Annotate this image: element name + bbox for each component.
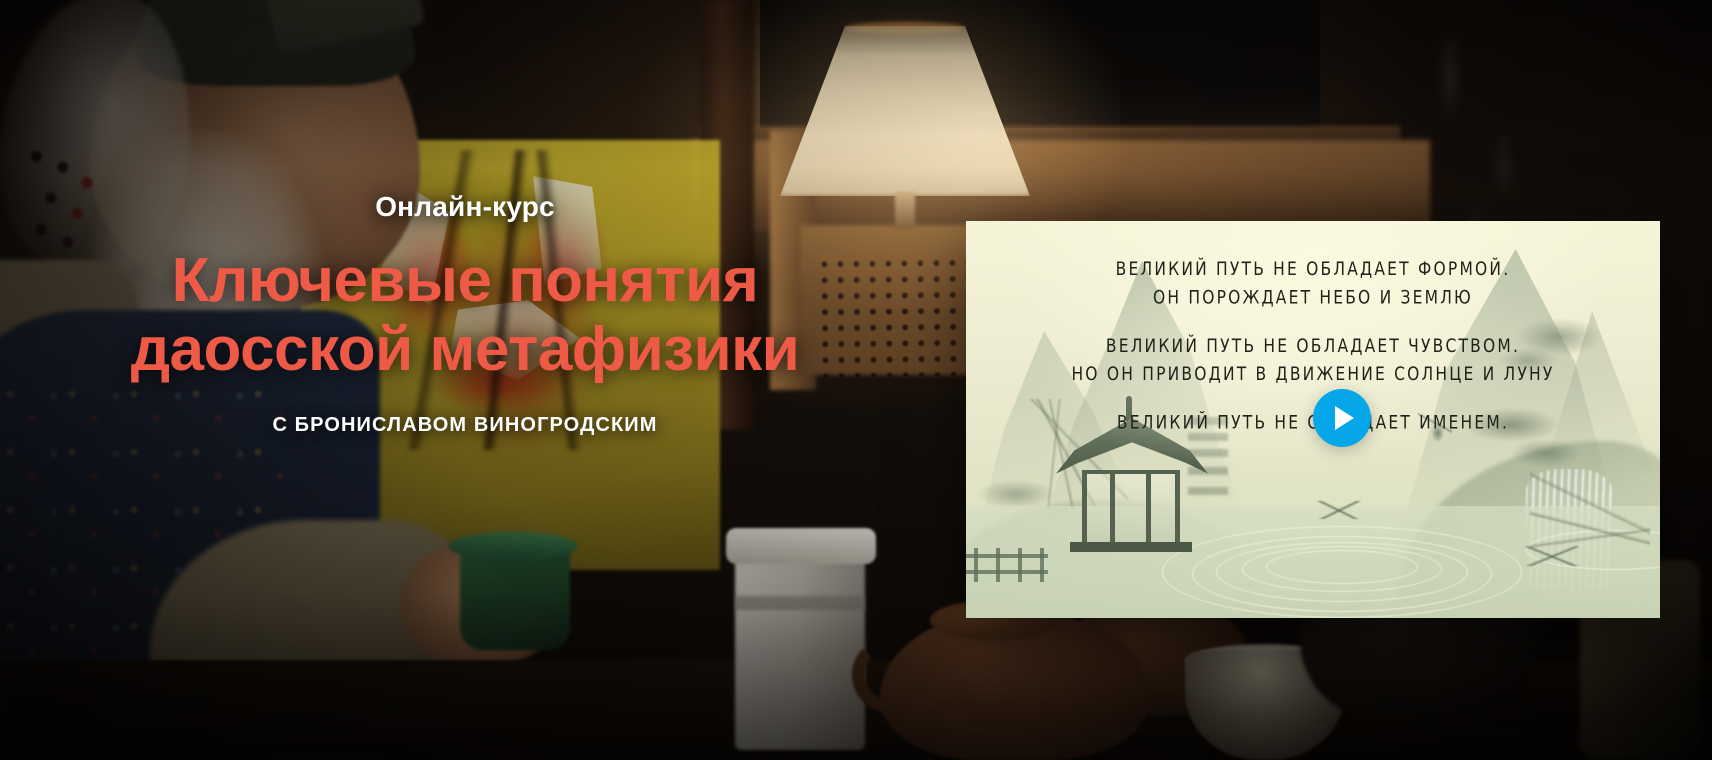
quote-line: Великий путь не обладает чувством. xyxy=(966,332,1660,360)
thermos-cap xyxy=(726,528,876,564)
thermos-flask xyxy=(735,540,865,750)
quote-stanza: Великий путь не обладает чувством. Но он… xyxy=(966,332,1660,389)
reeds xyxy=(1530,452,1650,602)
wooden-fence xyxy=(966,548,1048,582)
course-kicker: Онлайн-курс xyxy=(0,190,930,224)
pavilion-base xyxy=(1070,542,1192,552)
pavilion-column xyxy=(1146,470,1151,544)
water-ripple xyxy=(1266,550,1418,584)
title-line-1: Ключевые понятия xyxy=(172,246,759,315)
pavilion-column xyxy=(1110,470,1115,544)
pavilion-body xyxy=(1082,470,1180,544)
quote-line: Великий путь не обладает формой. xyxy=(966,255,1660,283)
landing-hero-section: Онлайн-курс Ключевые понятия даосской ме… xyxy=(0,0,1712,760)
page-title: Ключевые понятия даосской метафизики xyxy=(0,246,930,385)
title-line-2: даосской метафизики xyxy=(0,315,930,384)
quote-line: Он порождает небо и землю xyxy=(966,283,1660,311)
instructor-byline: С БРОНИСЛАВОМ ВИНОГРОДСКИМ xyxy=(0,414,930,437)
thermos-band xyxy=(735,596,865,610)
tea-gaiwan-lid xyxy=(448,532,578,560)
play-icon xyxy=(1335,406,1354,430)
hero-text-block: Онлайн-курс Ключевые понятия даосской ме… xyxy=(0,190,930,437)
video-player[interactable]: Великий путь не обладает формой. Он поро… xyxy=(966,221,1660,618)
flying-bird xyxy=(1316,501,1362,519)
play-button[interactable] xyxy=(1313,389,1371,447)
quote-line: Но он приводит в движение солнце и луну xyxy=(966,360,1660,388)
flying-bird xyxy=(1526,546,1578,566)
quote-stanza: Великий путь не обладает формой. Он поро… xyxy=(966,255,1660,312)
